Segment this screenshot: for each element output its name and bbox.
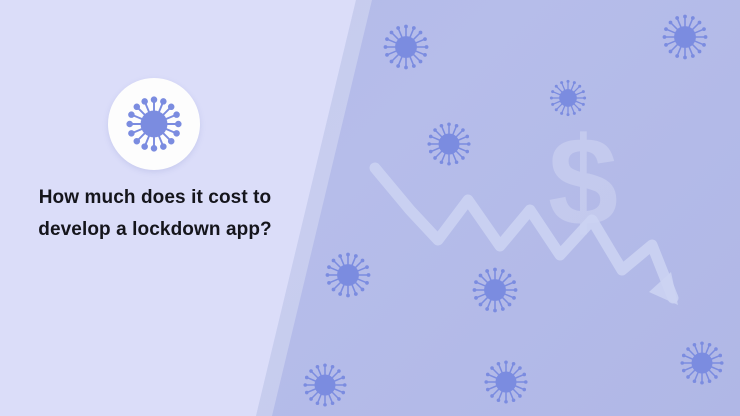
virus-icon xyxy=(547,77,589,119)
arrow-zigzag-path xyxy=(375,168,673,298)
virus-icon xyxy=(469,264,521,316)
virus-badge xyxy=(108,78,200,170)
headline-line-1: How much does it cost to xyxy=(39,187,272,208)
virus-icon xyxy=(380,21,432,73)
page-title: How much does it cost to develop a lockd… xyxy=(0,182,310,246)
virus-icon xyxy=(677,338,727,388)
declining-trend-arrow-icon xyxy=(360,150,700,325)
virus-icon xyxy=(322,249,374,301)
virus-icon xyxy=(424,119,474,169)
virus-icon xyxy=(481,357,531,407)
virus-icon xyxy=(300,360,350,410)
virus-icon xyxy=(122,92,186,156)
promo-banner: $ xyxy=(0,0,740,416)
headline-line-2: develop a lockdown app? xyxy=(0,214,310,246)
virus-icon xyxy=(659,11,711,63)
